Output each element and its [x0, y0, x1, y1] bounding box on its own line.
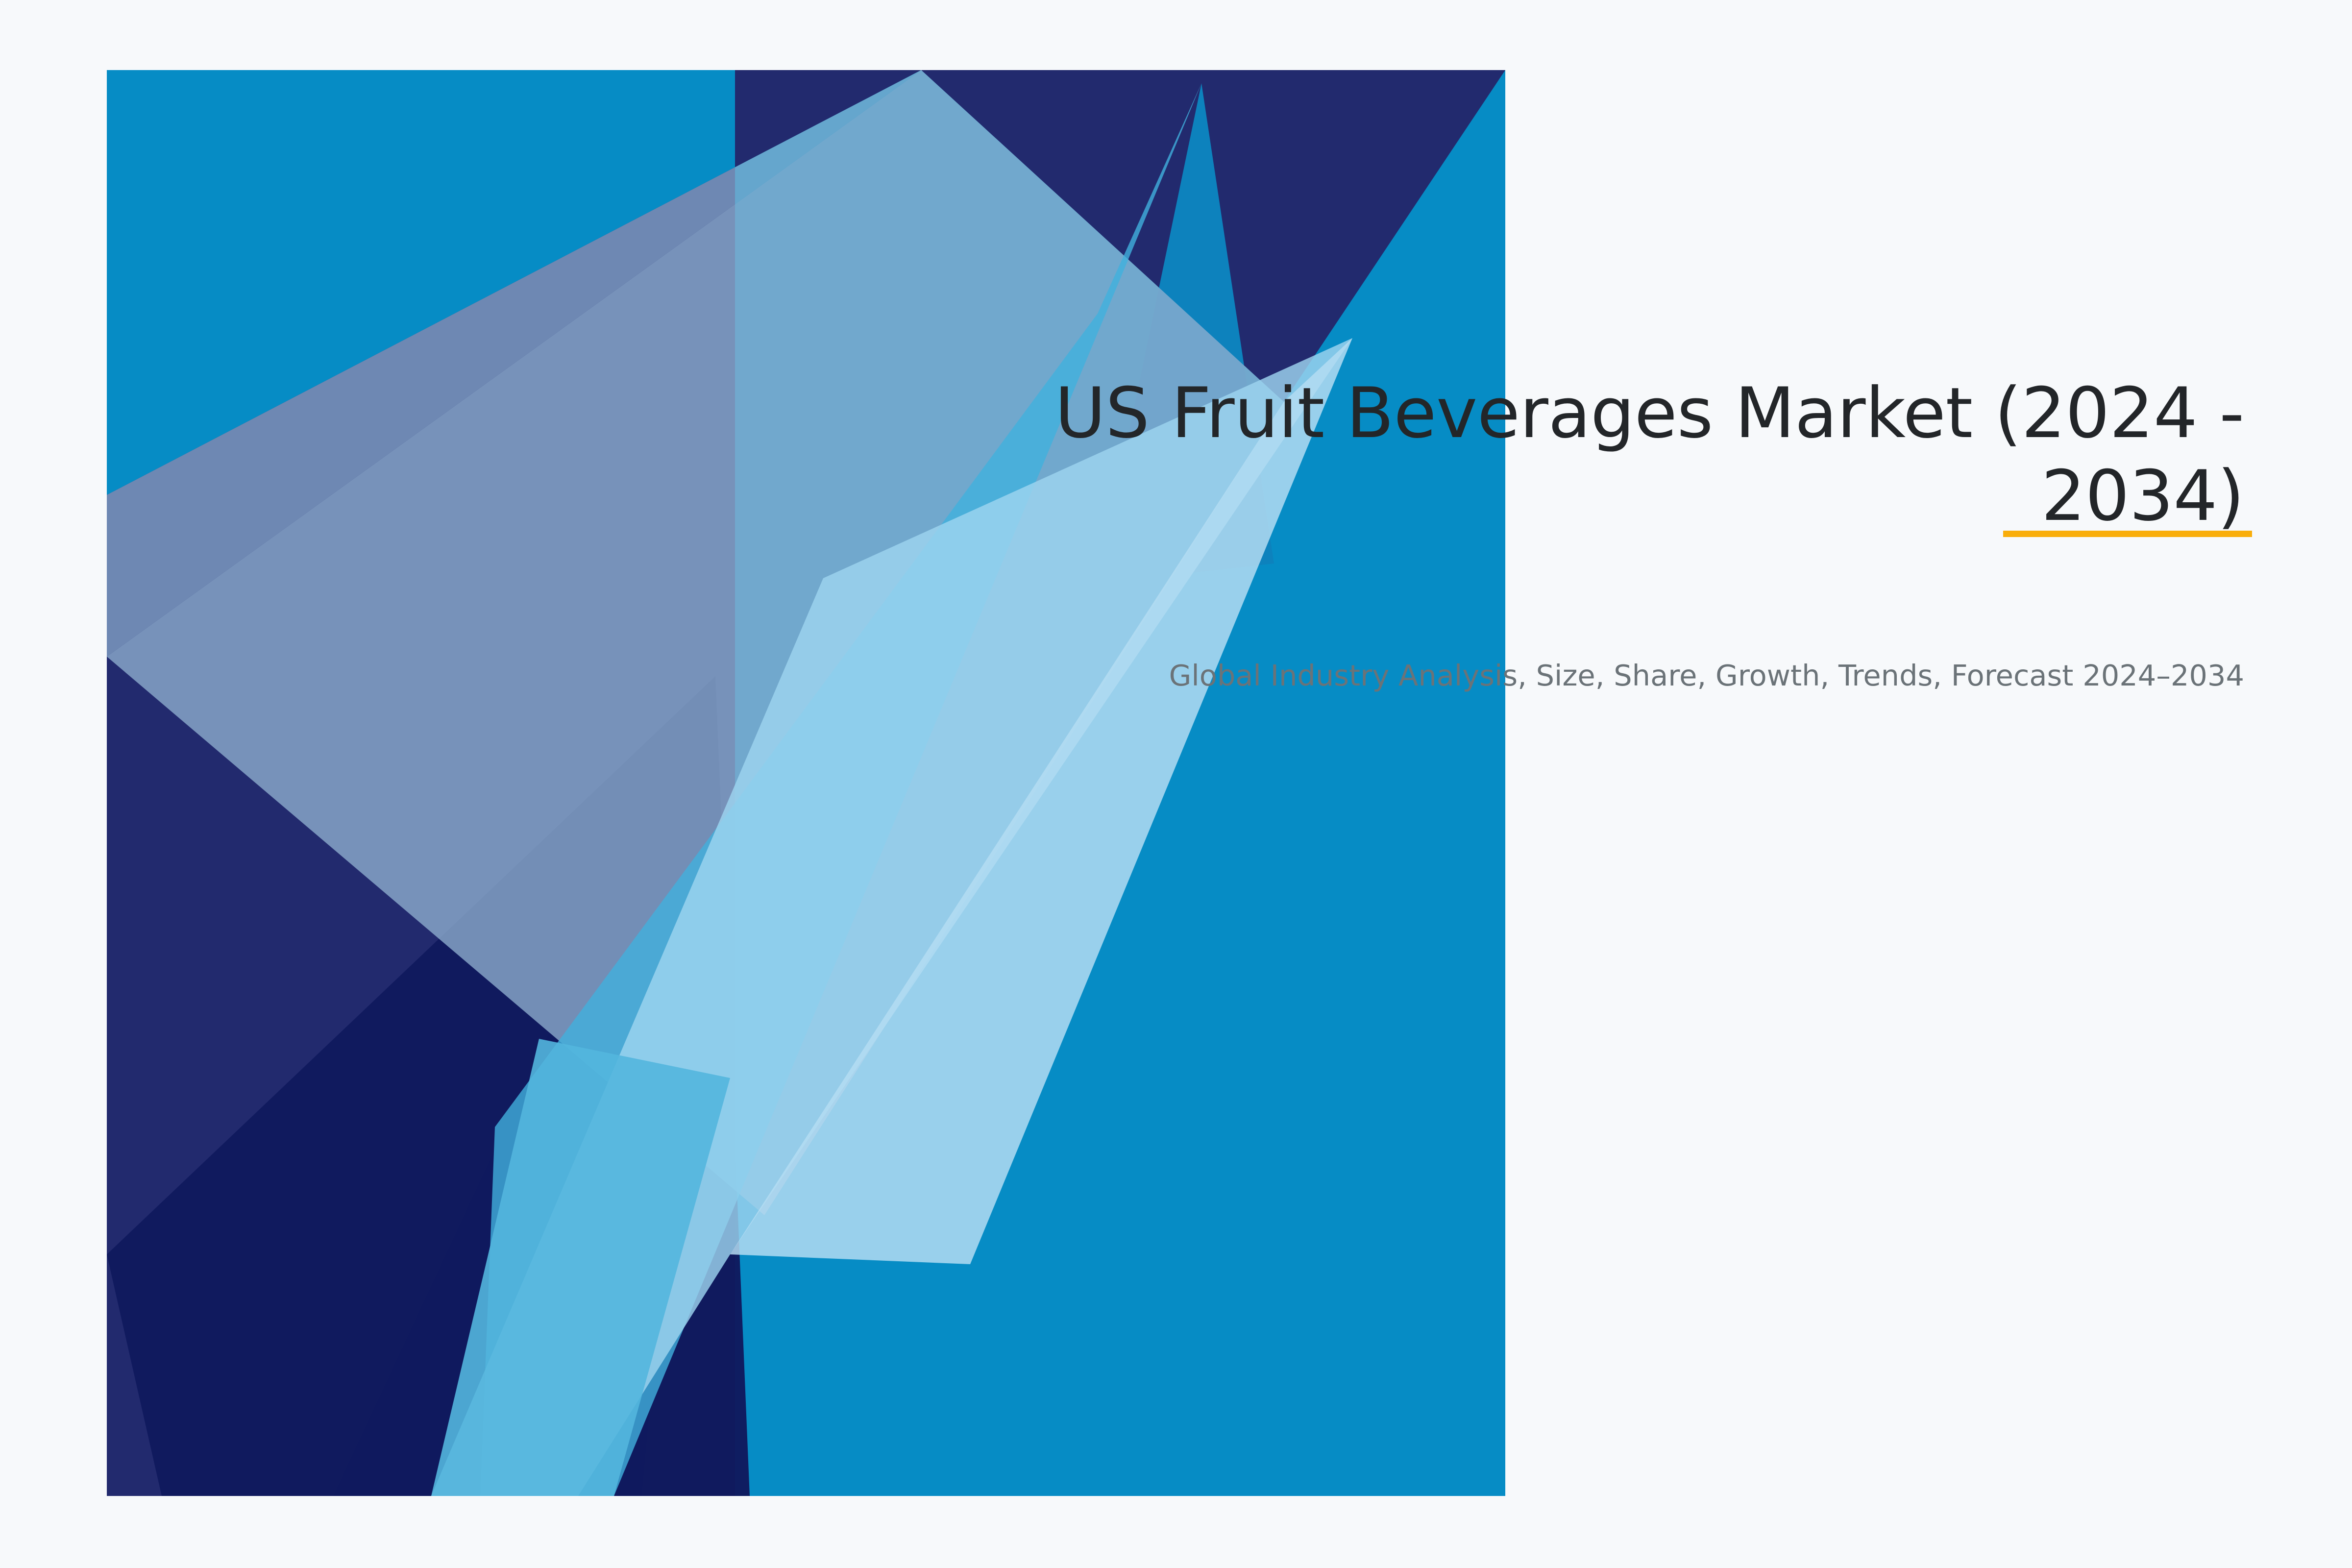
artwork-deep-navy-mass: [107, 676, 750, 1496]
artwork-deep-navy-spike: [333, 676, 715, 1496]
title-slide: US Fruit Beverages Market (2024 - 2034) …: [0, 0, 2352, 1568]
artwork-steel-quad: [107, 70, 1284, 1215]
title-accent-rule: [2003, 531, 2252, 537]
artwork-navy-field: [107, 70, 1505, 1496]
page-subtitle: Global Industry Analysis, Size, Share, G…: [931, 657, 2244, 695]
artwork-mid-blue-pillar: [431, 1039, 730, 1496]
page-title: US Fruit Beverages Market (2024 - 2034): [931, 372, 2244, 538]
artwork-clipped-layers: [107, 70, 1505, 1496]
geometric-artwork: [0, 0, 2352, 1568]
artwork-mid-blue-band: [480, 83, 1201, 1496]
artwork-navy-corner-triangle: [921, 70, 1505, 402]
artwork-base-cyan: [107, 70, 1505, 1496]
artwork-steel-wing: [107, 70, 921, 657]
title-block: US Fruit Beverages Market (2024 - 2034): [931, 372, 2244, 538]
